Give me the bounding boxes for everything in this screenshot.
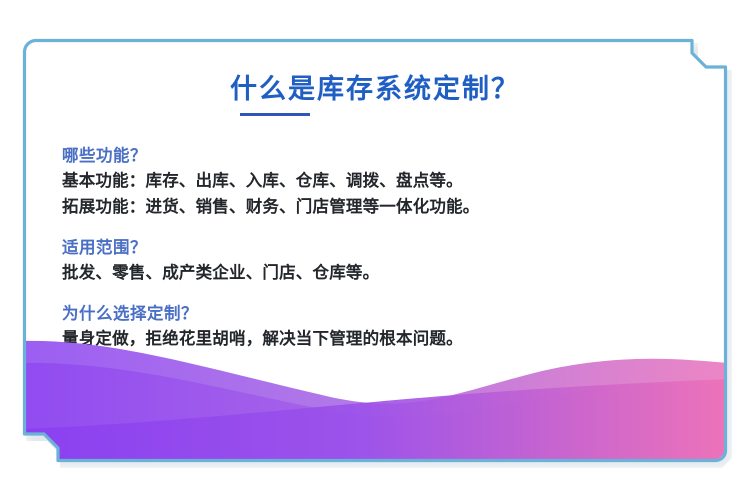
content-card: 什么是库存系统定制？ 哪些功能？ 基本功能：库存、出库、入库、仓库、调拨、盘点等… — [22, 38, 728, 463]
card-border-outline — [22, 38, 728, 463]
poster-canvas: 什么是库存系统定制？ 哪些功能？ 基本功能：库存、出库、入库、仓库、调拨、盘点等… — [0, 0, 750, 500]
